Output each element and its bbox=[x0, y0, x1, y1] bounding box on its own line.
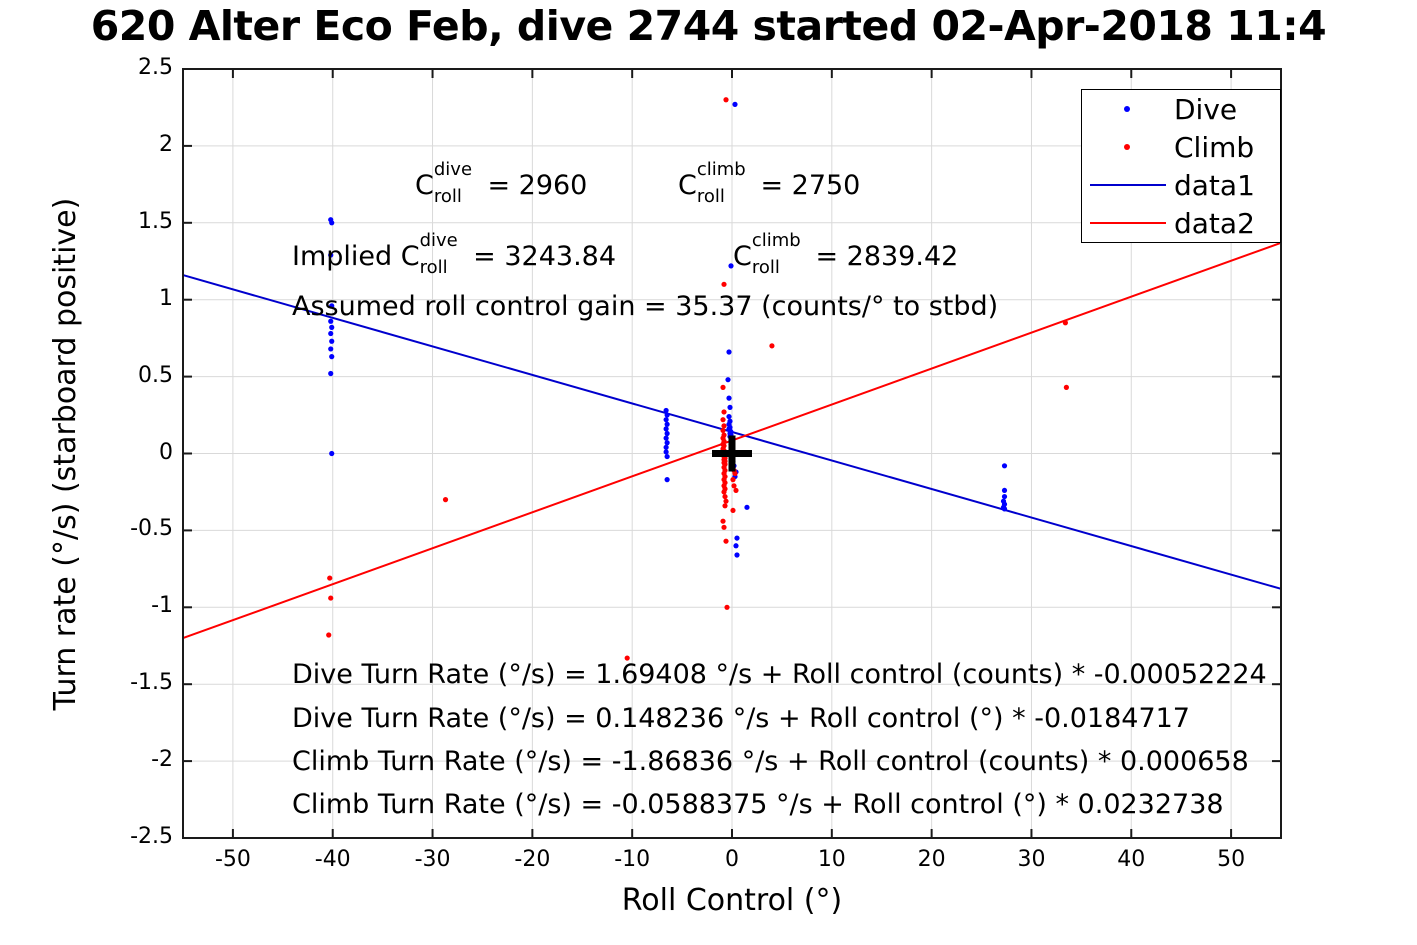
data-point bbox=[327, 575, 332, 580]
annotation-croll-dive: Cdiveroll = 2960 bbox=[415, 172, 587, 199]
data-point bbox=[328, 331, 333, 336]
data-point bbox=[720, 519, 725, 524]
croll-dive-c: C bbox=[415, 170, 434, 201]
data-point bbox=[665, 440, 670, 445]
data-point bbox=[733, 488, 738, 493]
annotation-roll-gain: Assumed roll control gain = 35.37 (count… bbox=[292, 293, 998, 320]
data-point bbox=[723, 499, 728, 504]
data-point bbox=[724, 605, 729, 610]
implied-dive-value: = 3243.84 bbox=[465, 241, 616, 272]
legend-label-data2: data2 bbox=[1174, 207, 1265, 240]
data-point bbox=[727, 405, 732, 410]
legend[interactable]: Dive Climb data1 data2 bbox=[1081, 89, 1281, 243]
x-tick-label: 50 bbox=[1209, 847, 1253, 872]
data-point bbox=[730, 477, 735, 482]
data-point bbox=[723, 539, 728, 544]
data-point bbox=[722, 503, 727, 508]
data-point bbox=[664, 426, 669, 431]
data-point bbox=[664, 445, 669, 450]
data-point bbox=[721, 525, 726, 530]
data-point bbox=[329, 325, 334, 330]
x-tick-label: 40 bbox=[1109, 847, 1153, 872]
data-point bbox=[326, 632, 331, 637]
data-point bbox=[1064, 385, 1069, 390]
legend-item-climb[interactable]: Climb bbox=[1082, 128, 1280, 166]
x-tick-label: 30 bbox=[1009, 847, 1053, 872]
x-tick-label: -20 bbox=[510, 847, 554, 872]
legend-item-data2[interactable]: data2 bbox=[1082, 204, 1280, 242]
legend-marker-climb-icon bbox=[1082, 128, 1174, 166]
data-point bbox=[1063, 320, 1068, 325]
data-point bbox=[721, 423, 726, 428]
x-tick-label: -40 bbox=[311, 847, 355, 872]
croll-dive-value: = 2960 bbox=[479, 170, 588, 201]
data-point bbox=[328, 371, 333, 376]
y-tick-label: -1.5 bbox=[113, 670, 173, 695]
y-tick-label: -2 bbox=[113, 747, 173, 772]
data-point bbox=[443, 497, 448, 502]
data-point bbox=[720, 417, 725, 422]
y-tick-label: 2.5 bbox=[113, 55, 173, 80]
data-point bbox=[721, 409, 726, 414]
legend-item-dive[interactable]: Dive bbox=[1082, 90, 1280, 128]
implied-dive-prefix: Implied C bbox=[292, 241, 420, 272]
croll-climb-value: = 2750 bbox=[752, 170, 861, 201]
y-tick-label: -1 bbox=[113, 593, 173, 618]
data-point bbox=[329, 354, 334, 359]
origin-plus-icon bbox=[712, 436, 752, 472]
data-point bbox=[664, 417, 669, 422]
implied-climb-value: = 2839.42 bbox=[807, 241, 958, 272]
data-point bbox=[329, 451, 334, 456]
y-tick-label: 0.5 bbox=[113, 363, 173, 388]
equation-dive-counts: Dive Turn Rate (°/s) = 1.69408 °/s + Rol… bbox=[292, 661, 1267, 688]
data-point bbox=[1002, 494, 1007, 499]
figure-container: 620 Alter Eco Feb, dive 2744 started 02-… bbox=[0, 0, 1417, 945]
data-point bbox=[1002, 488, 1007, 493]
data-point bbox=[664, 449, 669, 454]
data-point bbox=[665, 431, 670, 436]
annotation-implied-dive: Implied Cdiveroll = 3243.84 bbox=[292, 243, 616, 270]
data-point bbox=[664, 436, 669, 441]
annotation-croll-climb: Cclimbroll = 2750 bbox=[678, 172, 860, 199]
y-tick-label: 0 bbox=[113, 440, 173, 465]
y-tick-label: 1 bbox=[113, 286, 173, 311]
data-point bbox=[328, 346, 333, 351]
legend-label-dive: Dive bbox=[1174, 93, 1247, 126]
data-point bbox=[744, 505, 749, 510]
equation-climb-counts: Climb Turn Rate (°/s) = -1.86836 °/s + R… bbox=[292, 748, 1249, 775]
data-point bbox=[665, 477, 670, 482]
data-point bbox=[731, 483, 736, 488]
annotation-implied-climb: Cclimbroll = 2839.42 bbox=[733, 243, 958, 270]
data-point bbox=[733, 543, 738, 548]
y-tick-label: -2.5 bbox=[113, 824, 173, 849]
data-point bbox=[722, 494, 727, 499]
data-point bbox=[721, 282, 726, 287]
legend-line-data1-icon bbox=[1082, 166, 1174, 204]
equation-climb-degrees: Climb Turn Rate (°/s) = -0.0588375 °/s +… bbox=[292, 791, 1224, 818]
data-point bbox=[1002, 506, 1007, 511]
x-tick-label: -30 bbox=[411, 847, 455, 872]
legend-label-climb: Climb bbox=[1174, 131, 1264, 164]
data-point bbox=[732, 102, 737, 107]
data-point bbox=[665, 412, 670, 417]
y-tick-label: 2 bbox=[113, 132, 173, 157]
y-tick-label: -0.5 bbox=[113, 516, 173, 541]
data-point bbox=[665, 422, 670, 427]
data-point bbox=[730, 508, 735, 513]
data-point bbox=[725, 377, 730, 382]
data-point bbox=[329, 220, 334, 225]
x-tick-label: 0 bbox=[710, 847, 754, 872]
x-tick-label: -50 bbox=[211, 847, 255, 872]
legend-line-data2-icon bbox=[1082, 204, 1174, 242]
data-point bbox=[732, 471, 737, 476]
data-point bbox=[734, 552, 739, 557]
equation-dive-degrees: Dive Turn Rate (°/s) = 0.148236 °/s + Ro… bbox=[292, 705, 1190, 732]
data-point bbox=[726, 396, 731, 401]
x-tick-label: 10 bbox=[810, 847, 854, 872]
y-tick-label: 1.5 bbox=[113, 209, 173, 234]
data-point bbox=[723, 97, 728, 102]
data-point bbox=[664, 408, 669, 413]
legend-marker-dive-icon bbox=[1082, 90, 1174, 128]
data-point bbox=[720, 385, 725, 390]
data-point bbox=[1002, 463, 1007, 468]
data-point bbox=[329, 339, 334, 344]
data-point bbox=[721, 489, 726, 494]
x-tick-label: 20 bbox=[910, 847, 954, 872]
legend-item-data1[interactable]: data1 bbox=[1082, 166, 1280, 204]
legend-label-data1: data1 bbox=[1174, 169, 1265, 202]
data-point bbox=[734, 535, 739, 540]
data-point bbox=[726, 349, 731, 354]
data-point bbox=[769, 343, 774, 348]
data-point bbox=[726, 414, 731, 419]
data-point bbox=[328, 595, 333, 600]
data-point bbox=[720, 428, 725, 433]
croll-climb-c: C bbox=[678, 170, 697, 201]
implied-climb-c: C bbox=[733, 241, 752, 272]
x-tick-label: -10 bbox=[610, 847, 654, 872]
data-point bbox=[665, 454, 670, 459]
